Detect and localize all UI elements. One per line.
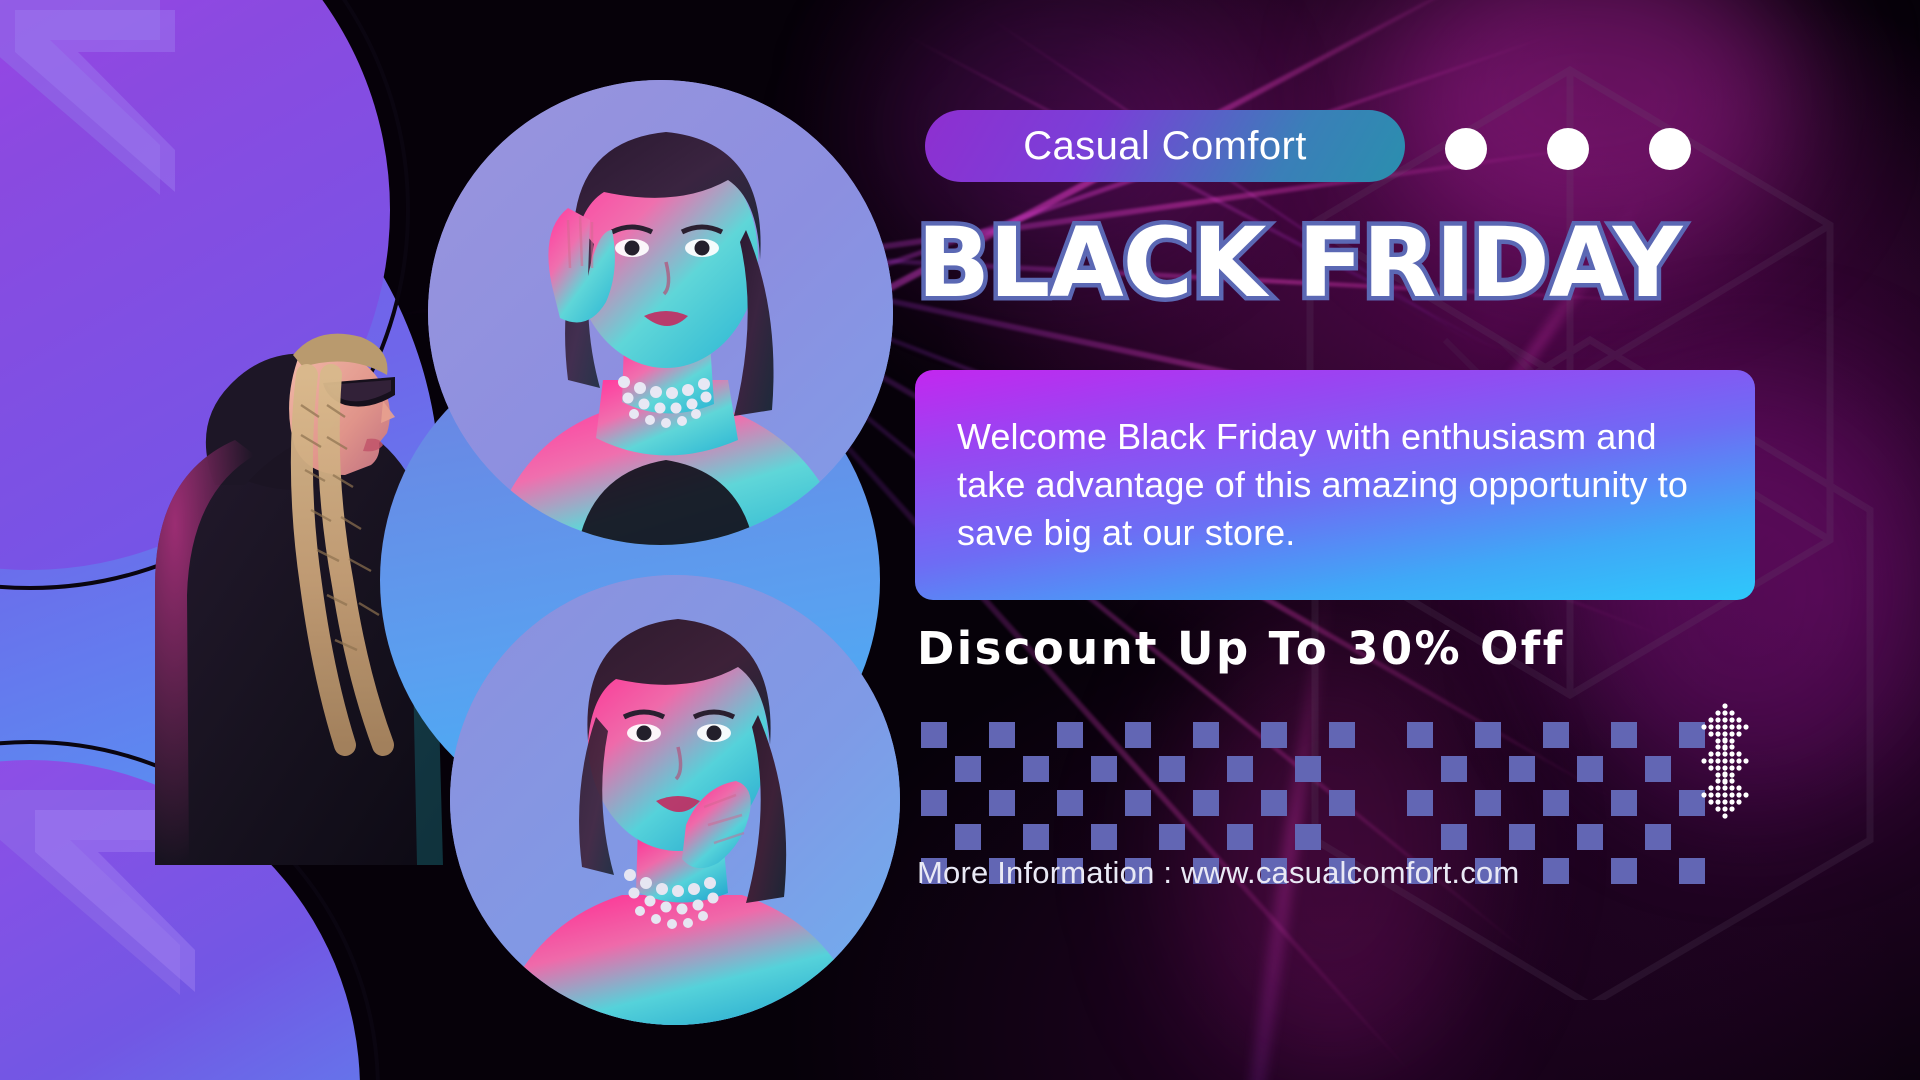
decor-dot-2 (1547, 128, 1589, 170)
diamond-dot-icon (1685, 700, 1765, 830)
chevron-arrow-top (0, 0, 220, 210)
description-text: Welcome Black Friday with enthusiasm and… (915, 413, 1755, 558)
brand-badge[interactable]: Casual Comfort (925, 110, 1405, 182)
decor-dot-1 (1445, 128, 1487, 170)
description-panel: Welcome Black Friday with enthusiasm and… (915, 370, 1755, 600)
brand-badge-label: Casual Comfort (1023, 124, 1306, 169)
decor-dots (1445, 128, 1691, 170)
discount-headline: Discount Up To 30% Off (917, 622, 1777, 675)
model-portrait-top (428, 80, 893, 545)
model-portrait-bottom (450, 575, 900, 1025)
page-title: BLACK FRIDAY (917, 215, 1767, 311)
poster-canvas: Casual Comfort BLACK FRIDAY Welcome Blac… (0, 0, 1920, 1080)
more-information-text[interactable]: More Information : www.casualcomfort.com (917, 855, 1777, 891)
decor-dot-3 (1649, 128, 1691, 170)
content-column: Casual Comfort BLACK FRIDAY Welcome Blac… (925, 0, 1755, 1080)
